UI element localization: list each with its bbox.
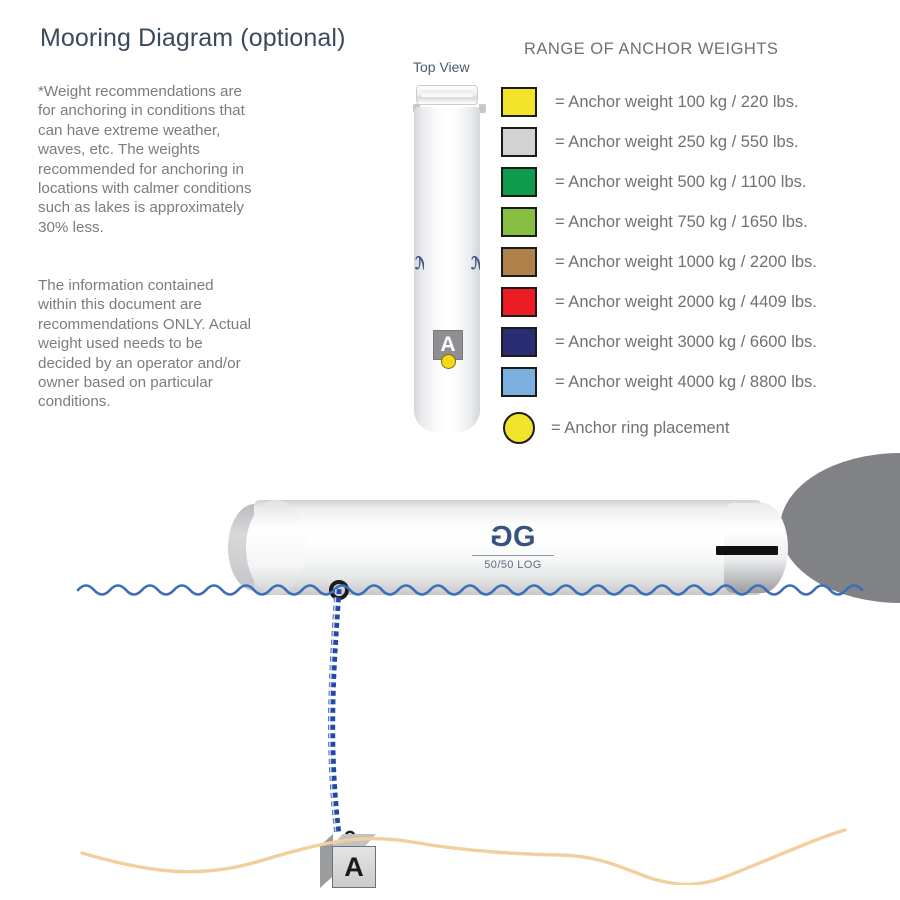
color-swatch-icon xyxy=(501,247,537,277)
legend-title: RANGE OF ANCHOR WEIGHTS xyxy=(524,40,778,59)
top-view-end-cap-inner xyxy=(421,90,473,97)
logo-subtitle: 50/50 LOG xyxy=(470,559,556,571)
color-swatch-icon xyxy=(501,167,537,197)
legend-row: = Anchor weight 750 kg / 1650 lbs. xyxy=(501,202,881,242)
legend-row: = Anchor weight 100 kg / 220 lbs. xyxy=(501,82,881,122)
page-title: Mooring Diagram (optional) xyxy=(40,24,440,53)
seabed-line xyxy=(0,795,900,885)
anchor-weight-legend: = Anchor weight 100 kg / 220 lbs. = Anch… xyxy=(501,82,881,450)
legend-label: = Anchor weight 3000 kg / 6600 lbs. xyxy=(555,333,817,352)
color-swatch-icon xyxy=(501,127,537,157)
top-view-logo-mark-right: ℳ xyxy=(471,253,480,275)
color-swatch-icon xyxy=(501,327,537,357)
legend-label: = Anchor weight 4000 kg / 8800 lbs. xyxy=(555,373,817,392)
legend-label: = Anchor weight 500 kg / 1100 lbs. xyxy=(555,173,807,192)
logo-glyphs: GG xyxy=(470,522,556,552)
logo-glyph-mirrored-g: G xyxy=(491,522,513,552)
top-view-shoulder-right xyxy=(479,104,486,113)
buoy-logo: GG 50/50 LOG xyxy=(470,522,556,571)
legend-label: = Anchor weight 1000 kg / 2200 lbs. xyxy=(555,253,817,272)
legend-row: = Anchor weight 1000 kg / 2200 lbs. xyxy=(501,242,881,282)
weight-recommendations-paragraph: *Weight recommendations are for anchorin… xyxy=(38,82,253,237)
legend-row: = Anchor weight 500 kg / 1100 lbs. xyxy=(501,162,881,202)
legend-label: = Anchor weight 250 kg / 550 lbs. xyxy=(555,133,799,152)
legend-label: = Anchor weight 750 kg / 1650 lbs. xyxy=(555,213,808,232)
disclaimer-paragraph: The information contained within this do… xyxy=(38,276,253,412)
legend-label: = Anchor weight 2000 kg / 4409 lbs. xyxy=(555,293,817,312)
top-view-anchor-ring-icon xyxy=(441,354,456,369)
legend-label: = Anchor ring placement xyxy=(551,419,729,438)
top-view-end-cap xyxy=(416,85,478,105)
logo-glyph-g: G xyxy=(513,521,535,553)
mooring-scene: GG 50/50 LOG A xyxy=(0,440,900,900)
water-wave-path xyxy=(78,586,862,595)
legend-row: = Anchor weight 3000 kg / 6600 lbs. xyxy=(501,322,881,362)
legend-label: = Anchor weight 100 kg / 220 lbs. xyxy=(555,93,799,112)
legend-row: = Anchor weight 4000 kg / 8800 lbs. xyxy=(501,362,881,402)
buoy-connector-slot xyxy=(716,546,778,555)
water-surface-line xyxy=(0,578,900,600)
color-swatch-icon xyxy=(501,367,537,397)
seabed-path xyxy=(82,830,845,884)
color-swatch-icon xyxy=(501,287,537,317)
top-view-buoy-illustration: ℳ ℳ A xyxy=(405,85,495,440)
logo-divider xyxy=(472,555,554,556)
color-swatch-icon xyxy=(501,207,537,237)
color-swatch-icon xyxy=(501,87,537,117)
legend-row: = Anchor weight 250 kg / 550 lbs. xyxy=(501,122,881,162)
legend-row: = Anchor weight 2000 kg / 4409 lbs. xyxy=(501,282,881,322)
top-view-logo-mark-left: ℳ xyxy=(415,253,424,275)
top-view-label: Top View xyxy=(413,59,470,75)
